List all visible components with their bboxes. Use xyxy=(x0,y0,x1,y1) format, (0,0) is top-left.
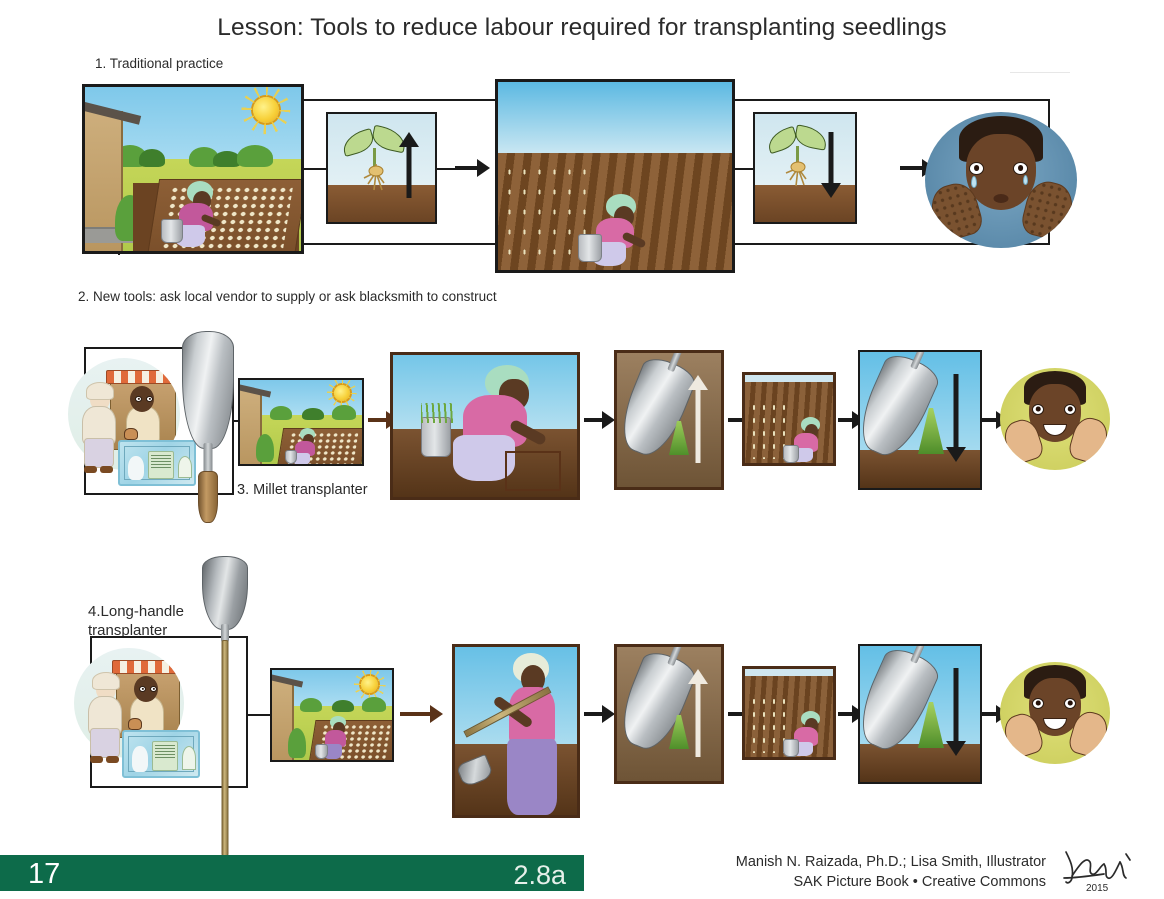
connector-line xyxy=(735,99,1050,101)
long-handle-transplanter-tool xyxy=(202,556,248,856)
panel-seedling-uplift-detail xyxy=(326,112,437,224)
panel-ploughed-field-scene xyxy=(495,79,735,273)
bucket-icon xyxy=(421,417,451,457)
bucket-icon xyxy=(578,234,602,262)
panel-nursery-seedbed-scene xyxy=(270,668,394,762)
eye-icon xyxy=(1032,404,1044,415)
banknote xyxy=(122,730,200,778)
customer-figure xyxy=(86,672,124,762)
panel-kneeling-transplant-scene xyxy=(390,352,580,500)
connector-line xyxy=(735,168,753,170)
bucket-icon xyxy=(783,445,799,463)
connector-line xyxy=(304,99,502,101)
arrow-down-icon xyxy=(946,374,966,462)
credits-block: Manish N. Raizada, Ph.D.; Lisa Smith, Il… xyxy=(666,852,1046,892)
bucket-icon xyxy=(783,739,799,757)
credit-line-authors: Manish N. Raizada, Ph.D.; Lisa Smith, Il… xyxy=(666,852,1046,872)
arrow-up-icon xyxy=(688,375,708,463)
tear-icon xyxy=(1023,175,1028,185)
panel-nursery-seedbed-scene xyxy=(238,378,364,466)
arrow-down-icon xyxy=(821,132,841,198)
panel-field-rows-detail xyxy=(742,666,836,760)
signature-year: 2015 xyxy=(1086,883,1109,894)
section-label-new-tools: 2. New tools: ask local vendor to supply… xyxy=(78,288,497,305)
panel-happy-farmer-portrait xyxy=(1000,368,1110,470)
panel-sad-farmer-portrait xyxy=(925,112,1077,248)
root-icon xyxy=(360,164,392,192)
section-label-long-handle: 4.Long-handle transplanter xyxy=(88,602,184,640)
eye-icon xyxy=(1013,162,1028,175)
panel-trowel-lifting-seedling xyxy=(614,644,724,784)
footer-green-bar: 17 2.8a xyxy=(0,855,584,891)
arrow-down-icon xyxy=(946,668,966,756)
panel-nursery-seedbed-scene xyxy=(82,84,304,254)
connector-line xyxy=(304,168,326,170)
section-label-millet: 3. Millet transplanter xyxy=(237,481,368,500)
customer-figure xyxy=(80,382,118,472)
sun-icon xyxy=(334,385,350,401)
panel-field-rows-detail xyxy=(742,372,836,466)
panel-seedling-planting-detail xyxy=(753,112,857,224)
bucket-icon xyxy=(161,219,183,243)
figure-code: 2.8a xyxy=(513,858,566,892)
illustrator-signature: 2015 xyxy=(1060,848,1140,894)
panel-trowel-planting-seedling xyxy=(858,644,982,784)
eye-icon xyxy=(1032,698,1044,709)
eye-icon xyxy=(969,162,984,175)
sun-icon xyxy=(361,676,378,693)
eye-icon xyxy=(1064,698,1076,709)
arrow-up-icon xyxy=(399,132,419,198)
farmer-figure xyxy=(499,653,579,817)
bucket-icon xyxy=(315,744,328,759)
slide-page: Lesson: Tools to reduce labour required … xyxy=(0,0,1164,899)
page-title: Lesson: Tools to reduce labour required … xyxy=(0,14,1164,42)
eye-icon xyxy=(1064,404,1076,415)
bucket-icon xyxy=(285,450,297,464)
panel-trowel-planting-seedling xyxy=(858,350,982,490)
connector-line xyxy=(437,168,455,170)
panel-trowel-lifting-seedling xyxy=(614,350,724,490)
panel-standing-transplant-scene xyxy=(452,644,580,818)
panel-happy-farmer-portrait xyxy=(1000,662,1110,764)
tear-icon xyxy=(971,176,977,188)
scan-artifact xyxy=(1010,72,1070,73)
credit-line-source: SAK Picture Book • Creative Commons xyxy=(666,872,1046,892)
arrow-up-icon xyxy=(688,669,708,757)
page-number: 17 xyxy=(28,857,60,891)
root-icon xyxy=(783,160,813,188)
section-label-traditional: 1. Traditional practice xyxy=(95,55,223,72)
sun-icon xyxy=(253,97,279,123)
millet-transplanter-tool xyxy=(182,331,234,523)
connector-line xyxy=(246,714,270,716)
